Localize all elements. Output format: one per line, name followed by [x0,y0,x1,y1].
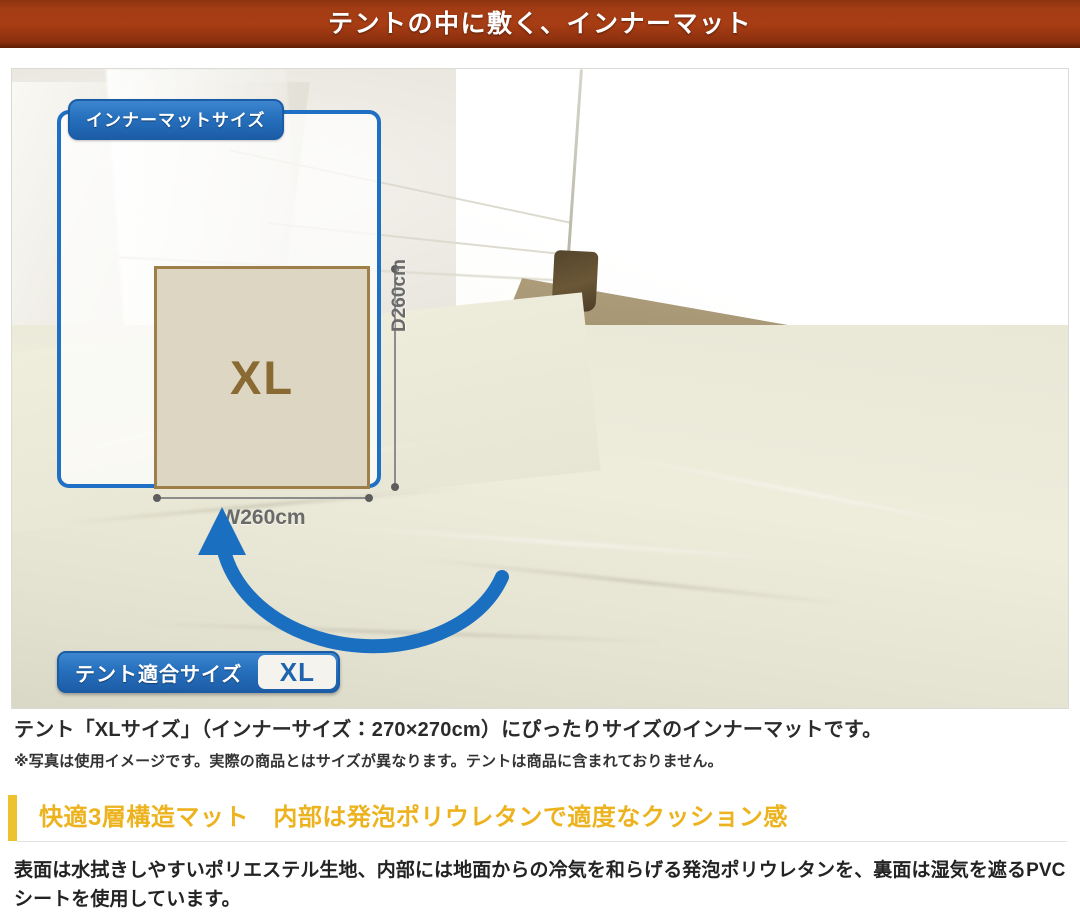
tent-fit-size-label: テント適合サイズ [59,653,258,691]
feature-heading: 快適3層構造マット 内部は発泡ポリウレタンで適度なクッション感 [8,795,1070,841]
mat-size-square: XL [154,266,370,489]
feature-divider [17,841,1067,842]
inner-mat-size-card: XL D260cm W260cm [57,110,381,488]
description-main: テント「XLサイズ」（インナーサイズ：270×270cm）にぴったりサイズのイン… [14,716,1064,745]
product-photo: XL D260cm W260cm インナーマットサイズ テント適合サイズ XL [11,68,1069,709]
width-dimension-line [157,497,369,499]
tent-fit-size-value: XL [258,655,336,689]
feature-body-text: 表面は水拭きしやすいポリエステル生地、内部には地面からの冷気を和らげる発泡ポリウ… [14,856,1070,915]
description-block: テント「XLサイズ」（インナーサイズ：270×270cm）にぴったりサイズのイン… [14,716,1064,772]
description-note: ※写真は使用イメージです。実際の商品とはサイズが異なります。テントは商品に含まれ… [14,751,1064,772]
mat-size-label: XL [230,354,294,401]
dimension-cap-icon [365,494,373,502]
header-banner: テントの中に敷く、インナーマット [0,0,1080,48]
feature-heading-text: 快適3層構造マット 内部は発泡ポリウレタンで適度なクッション感 [17,806,788,830]
inner-mat-size-badge: インナーマットサイズ [68,99,284,140]
feature-accent-bar [8,795,17,841]
depth-dimension-label: D260cm [389,259,411,332]
page-title: テントの中に敷く、インナーマット [328,12,752,37]
dimension-cap-icon [391,483,399,491]
dimension-cap-icon [153,494,161,502]
width-dimension-label: W260cm [157,506,369,530]
tent-fit-size-badge: テント適合サイズ XL [57,651,340,693]
